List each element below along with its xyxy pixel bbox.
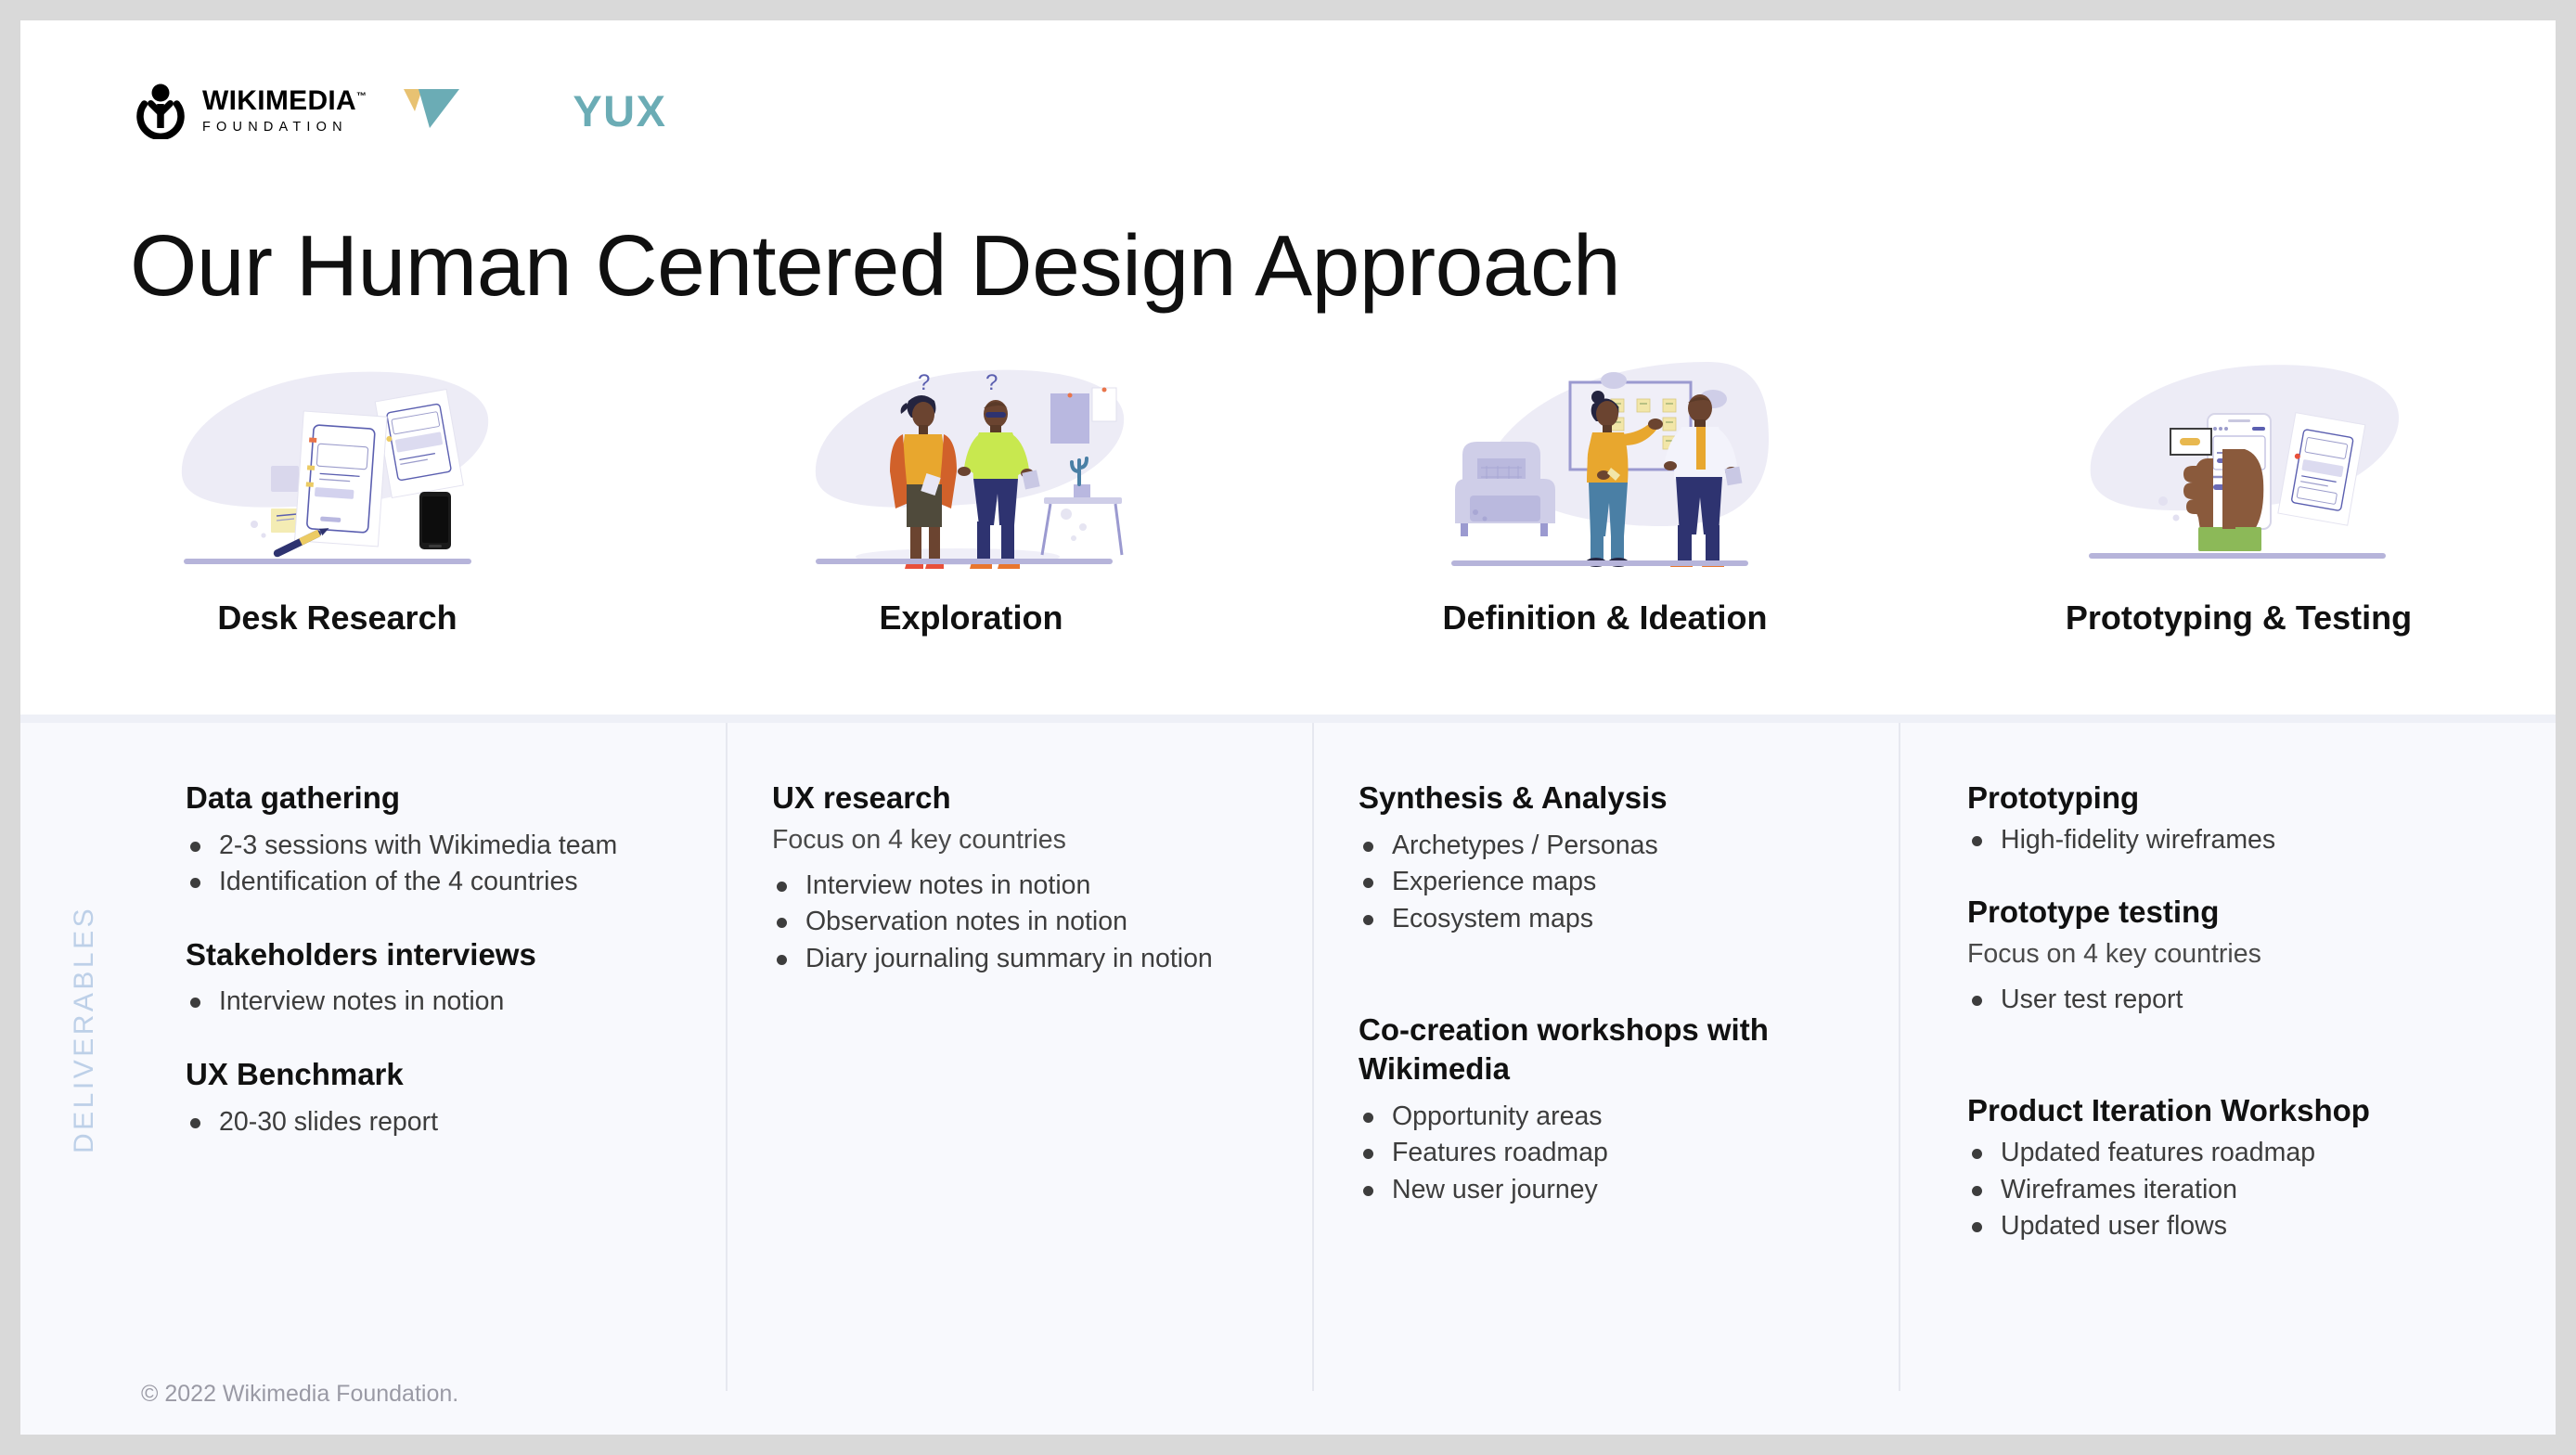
svg-text:?: ? (918, 370, 930, 395)
group-title: UX research (772, 779, 1264, 818)
phase-definition-ideation: Definition & Ideation (1288, 336, 1922, 716)
deliverable-group: UX research Focus on 4 key countries Int… (772, 779, 1264, 976)
list-item: Opportunity areas (1359, 1100, 1850, 1135)
list-item: Wireframes iteration (1967, 1173, 2459, 1208)
group-subtitle: Focus on 4 key countries (1967, 937, 2459, 972)
group-subtitle: Focus on 4 key countries (772, 823, 1264, 857)
group-bullets: 2-3 sessions with Wikimedia team Identif… (186, 829, 677, 900)
phases-strip: Desk Research ? ? (20, 336, 2556, 716)
deliverables-column-definition-ideation: Synthesis & Analysis Archetypes / Person… (1312, 723, 1899, 1391)
list-item: 20-30 slides report (186, 1105, 677, 1140)
list-item: Updated features roadmap (1967, 1136, 2459, 1171)
deliverables-column-prototyping-testing: Prototyping High-fidelity wireframes Pro… (1899, 723, 2507, 1391)
phase-label: Desk Research (217, 599, 457, 637)
group-bullets: Archetypes / Personas Experience maps Ec… (1359, 829, 1850, 937)
yux-logo: YUX (402, 84, 666, 137)
desk-research-illustration (161, 336, 514, 573)
group-title: Prototype testing (1967, 893, 2459, 932)
deliverables-section: DELIVERABLES Data gathering 2-3 sessions… (20, 715, 2556, 1435)
svg-text:?: ? (985, 370, 998, 395)
deliverables-columns: Data gathering 2-3 sessions with Wikimed… (150, 723, 2507, 1391)
list-item: Observation notes in notion (772, 905, 1264, 940)
group-bullets: Opportunity areas Features roadmap New u… (1359, 1100, 1850, 1208)
list-item: Diary journaling summary in notion (772, 942, 1264, 977)
logo-bar: WIKIMEDIA™ FOUNDATION YUX (132, 78, 666, 143)
phase-label: Definition & Ideation (1443, 599, 1768, 637)
list-item: Identification of the 4 countries (186, 865, 677, 900)
deliverable-group: Prototype testing Focus on 4 key countri… (1967, 893, 2459, 1017)
wikimedia-wordmark: WIKIMEDIA™ FOUNDATION (202, 87, 367, 135)
exploration-illustration: ? ? (795, 336, 1148, 573)
list-item: Interview notes in notion (186, 985, 677, 1020)
group-bullets: User test report (1967, 983, 2459, 1018)
deliverable-group: Co-creation workshops with Wikimedia Opp… (1359, 1011, 1850, 1207)
page-title: Our Human Centered Design Approach (130, 217, 1620, 314)
list-item: Interview notes in notion (772, 869, 1264, 904)
phase-label: Prototyping & Testing (2066, 599, 2412, 637)
phase-prototyping-testing: Prototyping & Testing (1922, 336, 2556, 716)
wikimedia-globe-icon (132, 82, 189, 139)
phase-desk-research: Desk Research (20, 336, 654, 716)
group-title: Stakeholders interviews (186, 935, 677, 974)
group-bullets: Updated features roadmap Wireframes iter… (1967, 1136, 2459, 1244)
list-item: Ecosystem maps (1359, 902, 1850, 937)
list-item: 2-3 sessions with Wikimedia team (186, 829, 677, 864)
prototyping-testing-illustration (2063, 336, 2415, 573)
group-title: Prototyping (1967, 779, 2459, 818)
group-bullets: Interview notes in notion Observation no… (772, 869, 1264, 977)
deliverable-group: Product Iteration Workshop Updated featu… (1967, 1091, 2459, 1243)
group-bullets: Interview notes in notion (186, 985, 677, 1020)
group-title: Co-creation workshops with Wikimedia (1359, 1011, 1850, 1088)
list-item: Updated user flows (1967, 1209, 2459, 1244)
definition-ideation-illustration (1429, 336, 1782, 573)
list-item: New user journey (1359, 1173, 1850, 1208)
deliverable-group: Stakeholders interviews Interview notes … (186, 935, 677, 1020)
slide-canvas: WIKIMEDIA™ FOUNDATION YUX Our Human Cent… (20, 20, 2556, 1435)
deliverable-group: Data gathering 2-3 sessions with Wikimed… (186, 779, 677, 900)
slide-frame: WIKIMEDIA™ FOUNDATION YUX Our Human Cent… (0, 0, 2576, 1455)
copyright-footer: © 2022 Wikimedia Foundation. (141, 1381, 458, 1408)
group-title: Product Iteration Workshop (1967, 1091, 2459, 1130)
group-title: Synthesis & Analysis (1359, 779, 1850, 818)
deliverable-group: Prototyping High-fidelity wireframes (1967, 779, 2459, 857)
group-title: UX Benchmark (186, 1055, 677, 1094)
wikimedia-foundation-logo: WIKIMEDIA™ FOUNDATION (132, 82, 367, 139)
group-title: Data gathering (186, 779, 677, 818)
list-item: Experience maps (1359, 865, 1850, 900)
deliverable-group: Synthesis & Analysis Archetypes / Person… (1359, 779, 1850, 936)
list-item: Archetypes / Personas (1359, 829, 1850, 864)
phase-label: Exploration (879, 599, 1063, 637)
group-bullets: 20-30 slides report (186, 1105, 677, 1140)
deliverables-rail-label: DELIVERABLES (69, 862, 100, 1196)
wikimedia-foundation-word: FOUNDATION (202, 121, 367, 135)
list-item: Features roadmap (1359, 1136, 1850, 1171)
deliverable-group: UX Benchmark 20-30 slides report (186, 1055, 677, 1140)
group-bullets: High-fidelity wireframes (1967, 823, 2459, 858)
deliverables-column-exploration: UX research Focus on 4 key countries Int… (726, 723, 1312, 1391)
list-item: High-fidelity wireframes (1967, 823, 2459, 858)
list-item: User test report (1967, 983, 2459, 1018)
yux-wordmark: YUX (463, 89, 666, 133)
spacer (1967, 1052, 2459, 1091)
wikimedia-word: WIKIMEDIA™ (202, 87, 367, 115)
phase-exploration: ? ? (654, 336, 1288, 716)
spacer (1359, 972, 1850, 1011)
deliverables-column-desk-research: Data gathering 2-3 sessions with Wikimed… (150, 723, 726, 1391)
